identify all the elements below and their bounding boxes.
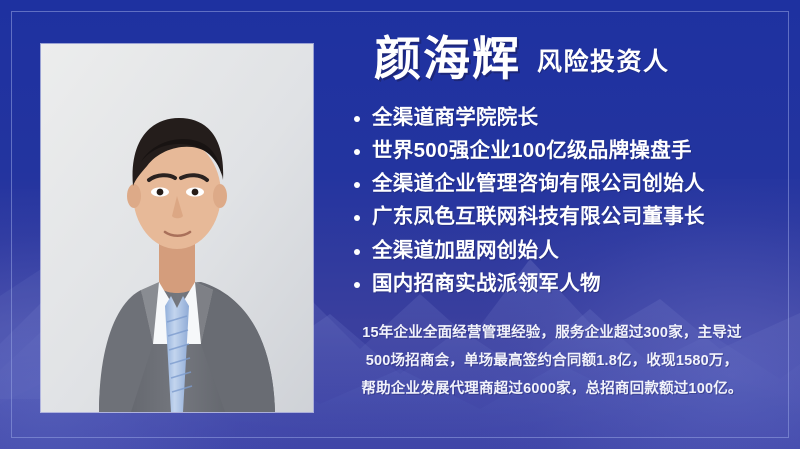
credentials-list: 全渠道商学院院长 世界500强企业100亿级品牌操盘手 全渠道企业管理咨询有限公… [352,106,772,296]
list-item: 世界500强企业100亿级品牌操盘手 [352,139,772,163]
summary-line: 15年企业全面经营管理经验，服务企业超过300家，主导过 [352,320,752,348]
list-item-label: 全渠道商学院院长 [372,106,538,129]
list-item: 广东凤色互联网科技有限公司董事长 [352,205,772,229]
summary-line: 帮助企业发展代理商超过6000家，总招商回款额过100亿。 [352,376,752,404]
summary-line: 500场招商会，单场最高签约合同额1.8亿，收现1580万， [352,348,752,376]
bullet-dot-icon [354,116,360,122]
page-title: 颜海辉 [374,34,521,84]
list-item-label: 国内招商实战派领军人物 [372,272,601,295]
list-item-label: 全渠道加盟网创始人 [372,239,559,262]
bullet-dot-icon [354,249,360,255]
list-item-label: 全渠道企业管理咨询有限公司创始人 [372,172,705,195]
list-item: 国内招商实战派领军人物 [352,272,772,296]
portrait-photo [41,44,313,412]
list-item-label: 广东凤色互联网科技有限公司董事长 [372,205,705,228]
list-item: 全渠道商学院院长 [352,106,772,130]
list-item: 全渠道加盟网创始人 [352,239,772,263]
bullet-dot-icon [354,182,360,188]
list-item: 全渠道企业管理咨询有限公司创始人 [352,172,772,196]
profile-content: 颜海辉 风险投资人 全渠道商学院院长 世界500强企业100亿级品牌操盘手 全渠… [352,34,772,403]
summary-paragraph: 15年企业全面经营管理经验，服务企业超过300家，主导过 500场招商会，单场最… [352,320,752,403]
bullet-dot-icon [354,215,360,221]
list-item-label: 世界500强企业100亿级品牌操盘手 [372,139,692,162]
name-row: 颜海辉 风险投资人 [374,34,772,84]
speaker-profile-slide: 颜海辉 风险投资人 全渠道商学院院长 世界500强企业100亿级品牌操盘手 全渠… [0,0,800,449]
bullet-dot-icon [354,149,360,155]
role-subtitle: 风险投资人 [537,42,670,84]
bullet-dot-icon [354,282,360,288]
